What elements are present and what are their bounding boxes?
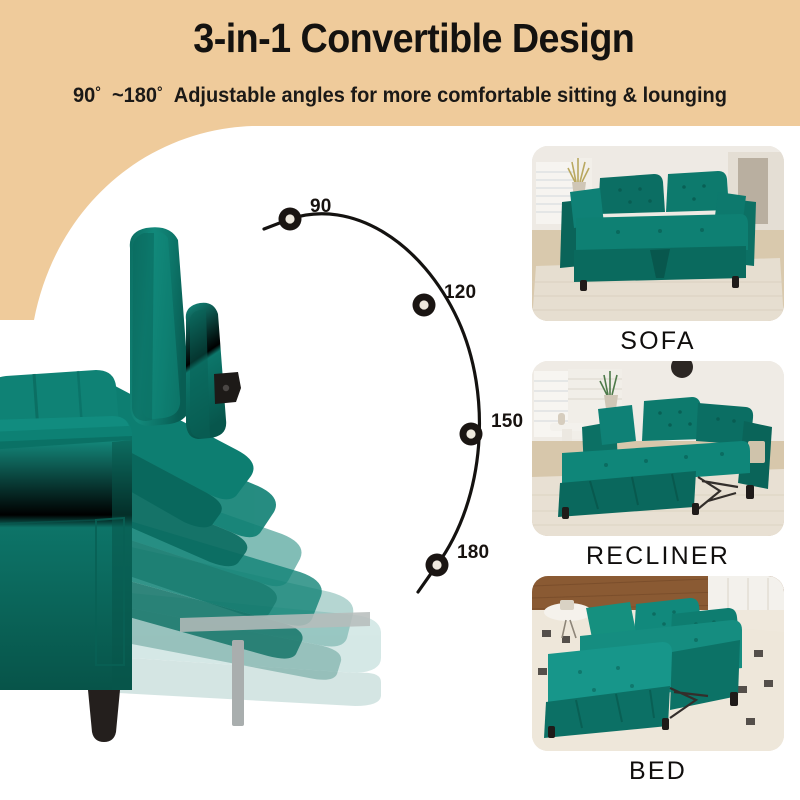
mode-photo-recliner-frame: [532, 361, 784, 536]
mode-photo-sofa[interactable]: SOFA: [532, 146, 784, 321]
page-subtitle: 90° ~180°Adjustable angles for more comf…: [28, 78, 772, 110]
mode-photo-bed-caption: BED: [532, 756, 784, 786]
angle-marker-120[interactable]: [413, 294, 436, 317]
mode-photo-recliner-caption: RECLINER: [532, 541, 784, 571]
angle-label-120: 120: [444, 282, 476, 304]
mode-photo-sofa-frame: [532, 146, 784, 321]
degree-symbol-min: °: [95, 84, 101, 101]
side-storage-pocket: [748, 441, 765, 463]
subtitle-text: Adjustable angles for more comfortable s…: [174, 83, 727, 107]
page-title: 3-in-1 Convertible Design: [32, 14, 768, 62]
mode-photo-sofa-caption: SOFA: [532, 326, 784, 356]
angle-marker-90[interactable]: [279, 208, 302, 231]
angle-range-label: 90° ~180°: [73, 83, 163, 107]
recline-hinge-bracket: [214, 372, 241, 404]
recline-angle-gauge: 90 120 150 180: [240, 180, 540, 610]
angle-label-150: 150: [491, 411, 523, 433]
sofa-leg-foot: [88, 690, 120, 742]
angle-label-180: 180: [457, 542, 489, 564]
infographic-root: 3-in-1 Convertible Design 90° ~180°Adjus…: [0, 0, 800, 800]
mode-photo-column: SOFA: [520, 140, 800, 800]
angle-marker-150[interactable]: [460, 423, 483, 446]
sofa-arm-body: [0, 416, 132, 690]
mode-photo-recliner[interactable]: RECLINER: [532, 361, 784, 536]
mode-photo-bed[interactable]: BED: [532, 576, 784, 751]
backrest-second-panel: [186, 303, 226, 439]
accent-pillow: [598, 405, 636, 445]
angle-label-90: 90: [310, 196, 332, 218]
mode-photo-bed-frame: [532, 576, 784, 751]
backrest-upright: [130, 227, 190, 426]
angle-marker-180[interactable]: [426, 554, 449, 577]
degree-symbol-max: °: [157, 84, 163, 101]
